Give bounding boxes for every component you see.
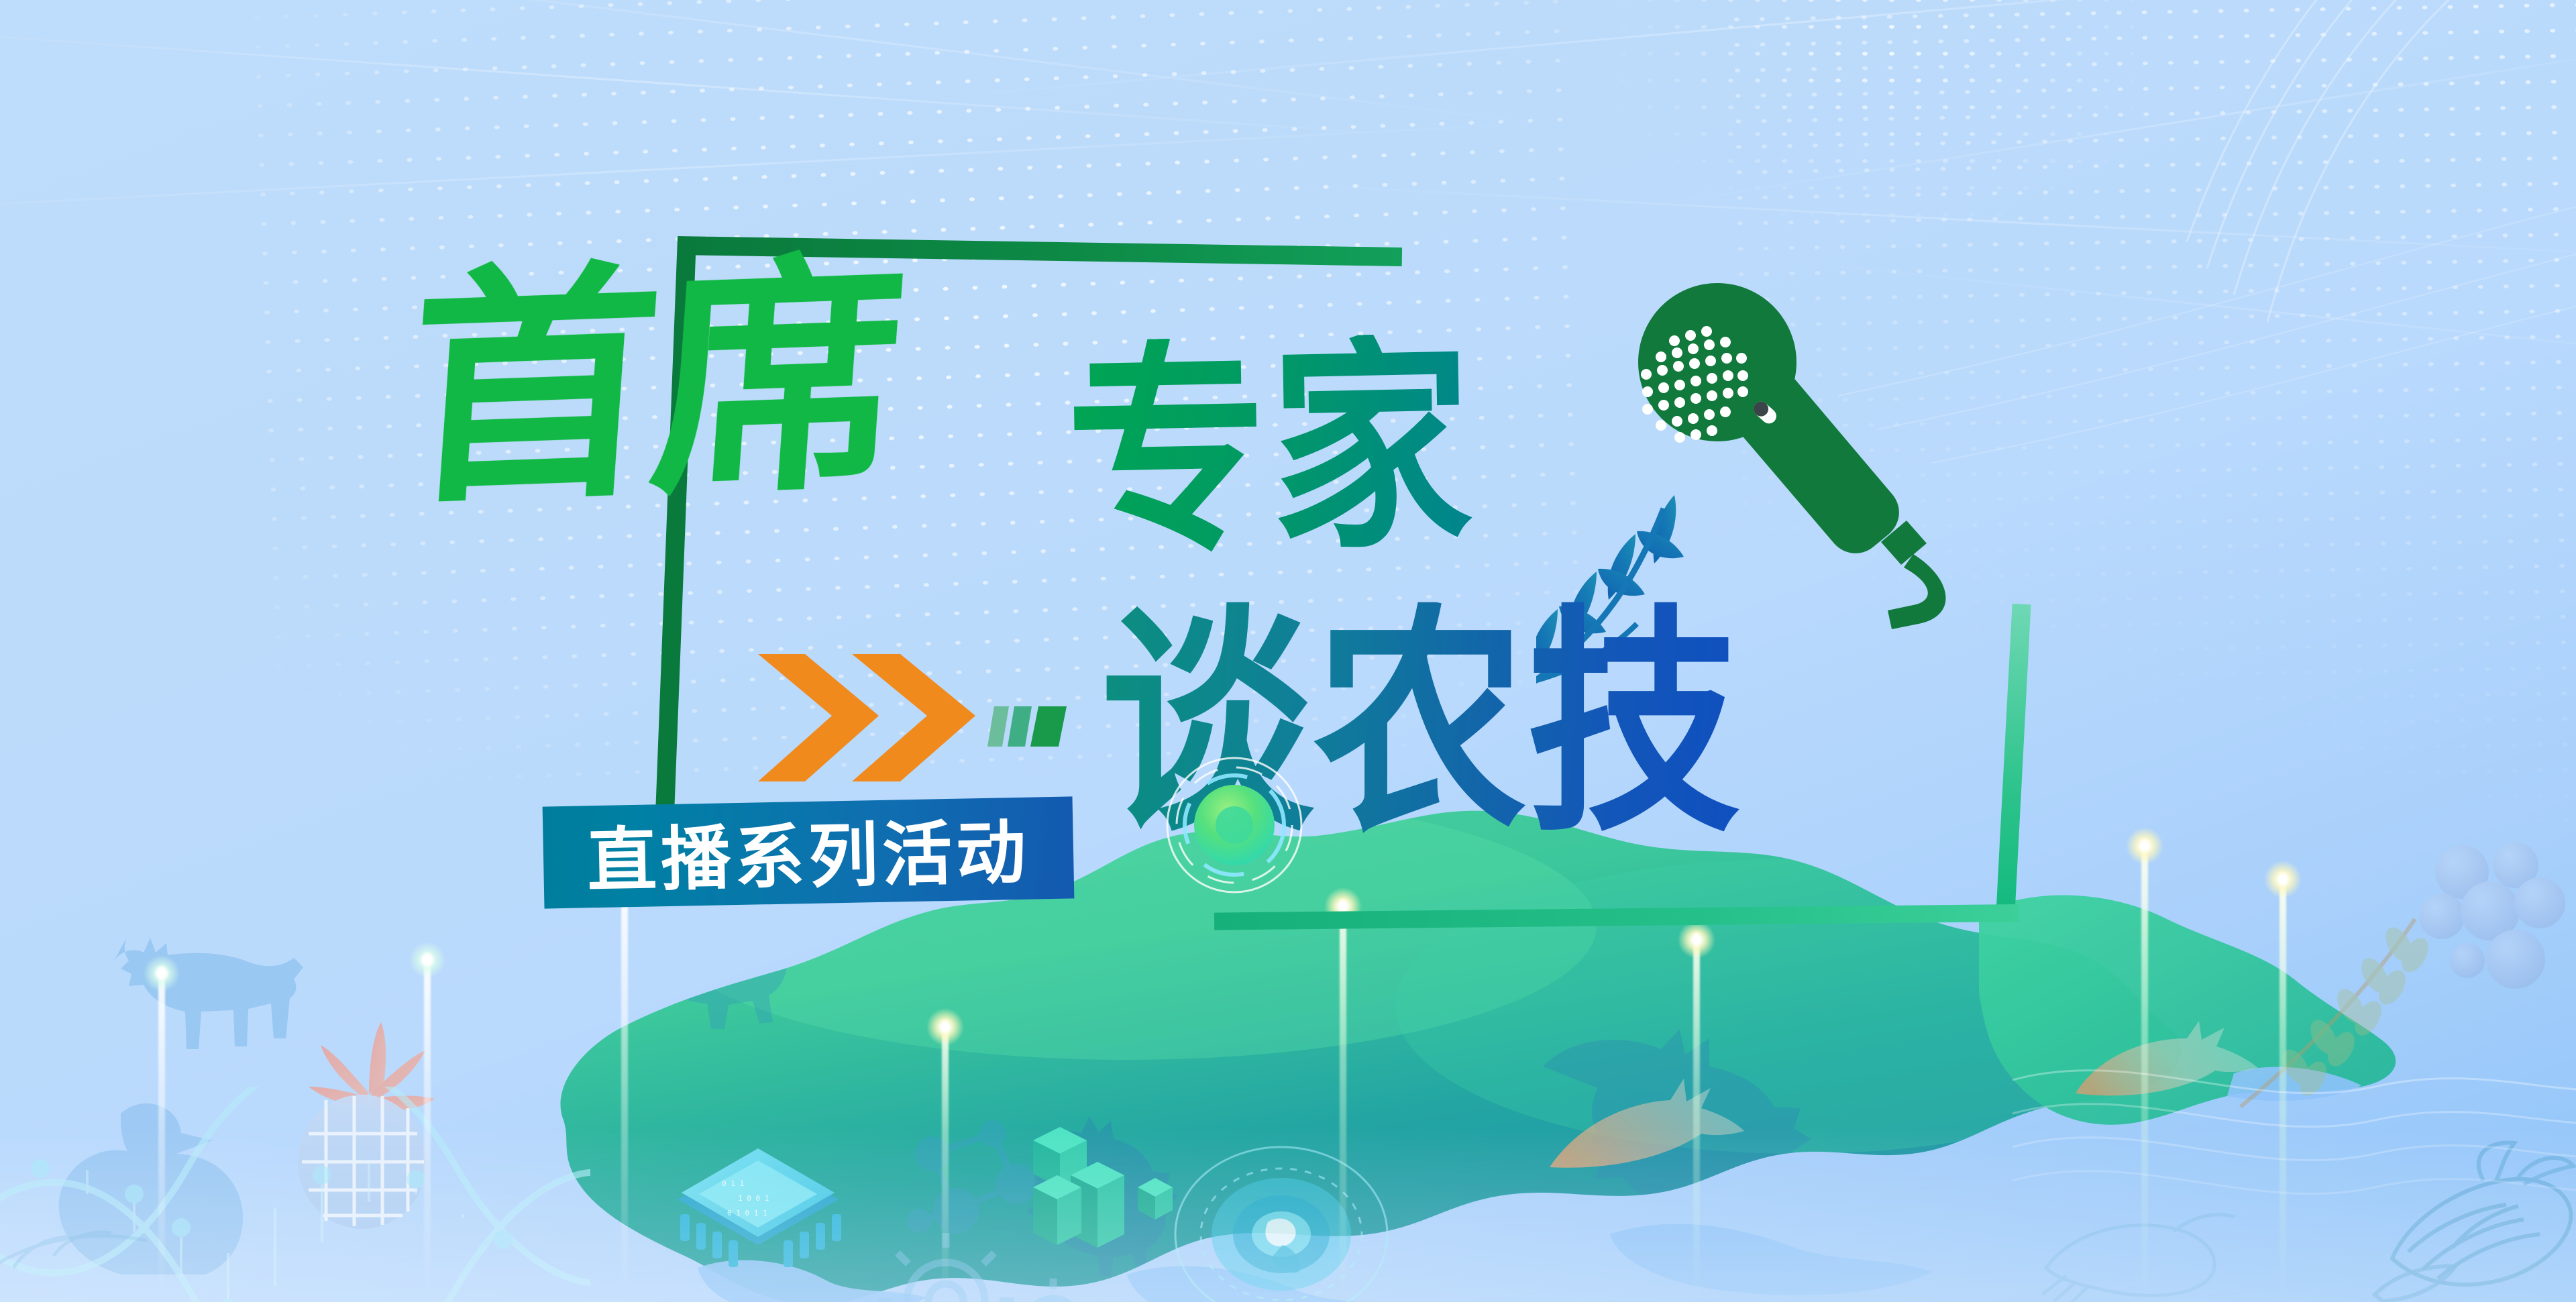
grapes-silhouette-icon	[2415, 838, 2576, 1013]
glowing-target-icon	[1164, 755, 1305, 896]
headline-expert-part: 专家	[1065, 333, 1476, 566]
double-chevron-right-icon	[751, 654, 1167, 788]
badge-label: 直播系列活动	[586, 795, 1031, 905]
headline-brush-part: 首席	[400, 260, 906, 506]
bottom-sheen-overlay	[0, 1128, 2576, 1302]
promo-banner: 0 1 11 0 0 10 1 0 1 1	[0, 0, 2576, 1302]
status-badge: 直播系列活动	[543, 796, 1075, 908]
